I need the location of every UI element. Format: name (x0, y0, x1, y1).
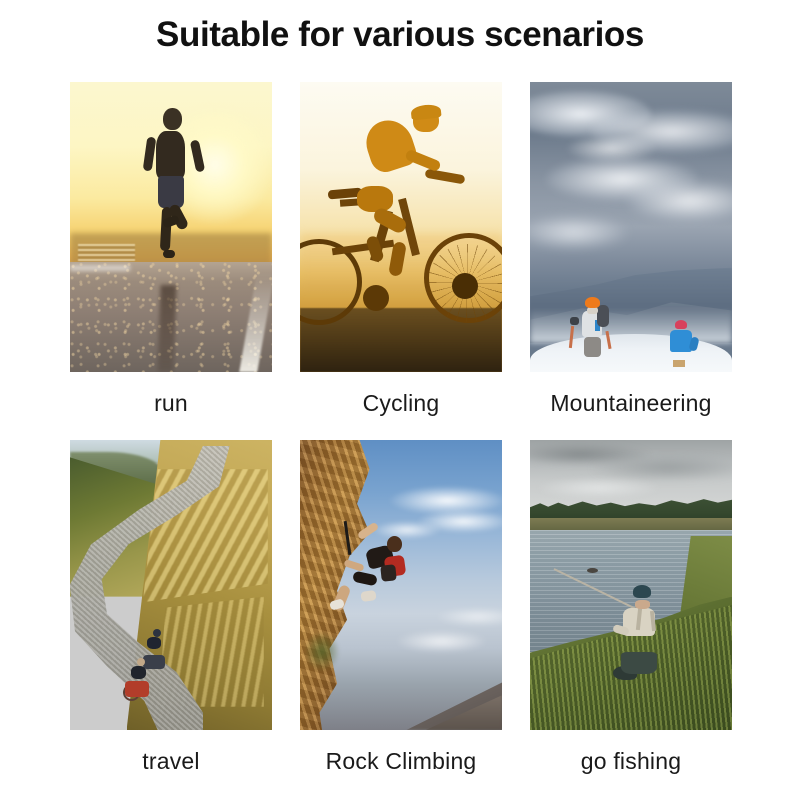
scenario-card-run[interactable]: run (70, 82, 272, 418)
road-edge-line (70, 265, 130, 271)
scenario-grid: run Cycling (70, 82, 732, 776)
scenario-card-rock-climbing[interactable]: Rock Climbing (300, 440, 502, 776)
climber-head (387, 536, 402, 552)
climber-one-orange-helmet (585, 297, 600, 308)
scenario-card-mountaineering[interactable]: Mountaineering (530, 82, 732, 418)
climber-pack-shadow (380, 564, 397, 581)
scenario-caption-travel: travel (70, 730, 272, 776)
cyclist-golden-silhouette-photo (300, 82, 502, 372)
scenario-card-go-fishing[interactable]: go fishing (530, 440, 732, 776)
mountaineers-snow-ridge-photo (530, 82, 732, 372)
climber-shoe-right (360, 590, 376, 602)
scenario-caption-rock-climbing: Rock Climbing (300, 730, 502, 776)
climber-one-face (587, 307, 598, 314)
scenario-card-travel[interactable]: travel (70, 440, 272, 776)
cloud-band-3 (373, 521, 442, 538)
scenario-card-cycling[interactable]: Cycling (300, 82, 502, 418)
runner-torso (156, 131, 185, 179)
row-spacer (70, 418, 732, 440)
climber-two-pants (673, 360, 685, 367)
cloud-band-4 (397, 631, 486, 651)
runner-sunset-road-photo (70, 82, 272, 372)
angler-beanie (633, 585, 651, 598)
cliff-vegetation (304, 631, 340, 672)
climber-one-backpack (597, 305, 609, 327)
scenario-caption-run: run (70, 372, 272, 418)
rear-cyclist-body (147, 637, 161, 649)
scenario-caption-cycling: Cycling (300, 372, 502, 418)
climber-one-glove (570, 317, 579, 325)
angler-head (635, 600, 650, 609)
cyclists-winding-mountain-road-photo (70, 440, 272, 730)
runner-head (163, 108, 182, 130)
lead-cyclist-body (131, 666, 146, 679)
cloud-2 (591, 111, 732, 152)
cyclist-hip (357, 186, 393, 212)
runner-shorts (158, 176, 184, 208)
rear-cyclist-bike (143, 655, 165, 669)
cloud-band-5 (437, 608, 502, 625)
rock-climber-overhang-photo (300, 440, 502, 730)
lead-cyclist-head (137, 658, 145, 666)
lead-cyclist-bike (125, 681, 149, 697)
bike-crankset (363, 285, 389, 311)
scenario-poster: { "title": "Suitable for various scenari… (0, 0, 800, 800)
climber-one-legs (584, 337, 601, 357)
scenario-caption-mountaineering: Mountaineering (530, 372, 732, 418)
angler-waders (621, 652, 657, 674)
grey-cloud-2 (591, 455, 732, 481)
runner-left-foot (163, 250, 175, 258)
scenario-caption-go-fishing: go fishing (530, 730, 732, 776)
bike-disc-brake (452, 273, 478, 299)
angler-riverbank-photo (530, 440, 732, 730)
runner-shadow (157, 285, 176, 372)
grey-cloud-3 (538, 478, 659, 498)
waterfowl (587, 568, 598, 573)
page-title: Suitable for various scenarios (0, 14, 800, 56)
climber-two-red-hat (675, 320, 687, 329)
rear-cyclist-head (153, 629, 161, 637)
